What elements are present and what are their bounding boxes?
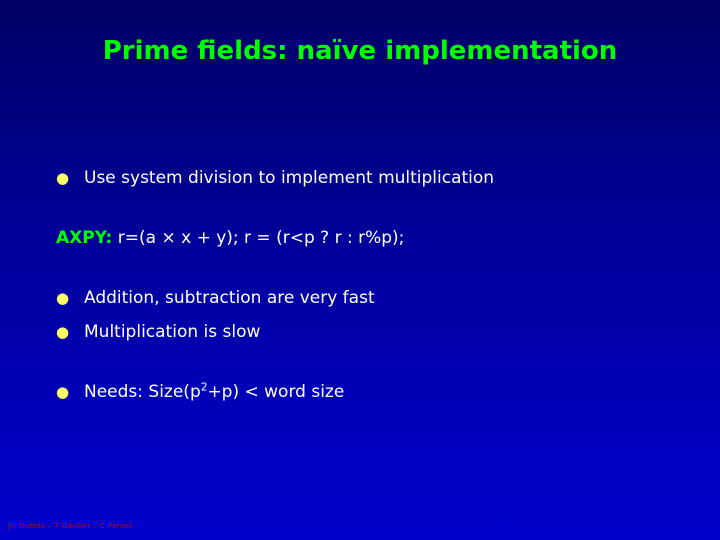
spacer [56,345,676,379]
bullet-dot-icon: ● [56,379,84,405]
spacer [56,191,676,225]
axpy-before-times: r=(a [112,228,161,248]
needs-prefix: Needs: Size(p [84,382,201,402]
needs-suffix: +p) < word size [207,382,344,402]
bullet-dot-icon: ● [56,319,84,345]
bullet-dot-icon: ● [56,285,84,311]
footer-credits: JG Dumas – T Gautier – C Pernet [8,522,133,530]
list-item: ● Multiplication is slow [56,319,676,345]
list-item-needs: ● Needs: Size(p2+p) < word size [56,379,676,405]
slide-body: ● Use system division to implement multi… [56,165,676,405]
list-item: ● Addition, subtraction are very fast [56,285,676,311]
slide: Prime fields: naïve implementation ● Use… [0,0,720,540]
needs-label: Needs: Size(p2+p) < word size [84,379,676,405]
list-item-label: Use system division to implement multipl… [84,165,676,191]
list-item: ● Use system division to implement multi… [56,165,676,191]
axpy-label: AXPY: [56,228,112,248]
spacer [56,251,676,285]
axpy-formula: AXPY: r=(a × x + y); r = (r<p ? r : r%p)… [56,225,676,251]
page-title: Prime fields: naïve implementation [0,36,720,66]
list-item-label: Multiplication is slow [84,319,676,345]
multiplication-sign-icon: × [161,228,175,248]
spacer [56,311,676,319]
bullet-dot-icon: ● [56,165,84,191]
axpy-after-times: x + y); r = (r<p ? r : r%p); [176,228,405,248]
list-item-label: Addition, subtraction are very fast [84,285,676,311]
